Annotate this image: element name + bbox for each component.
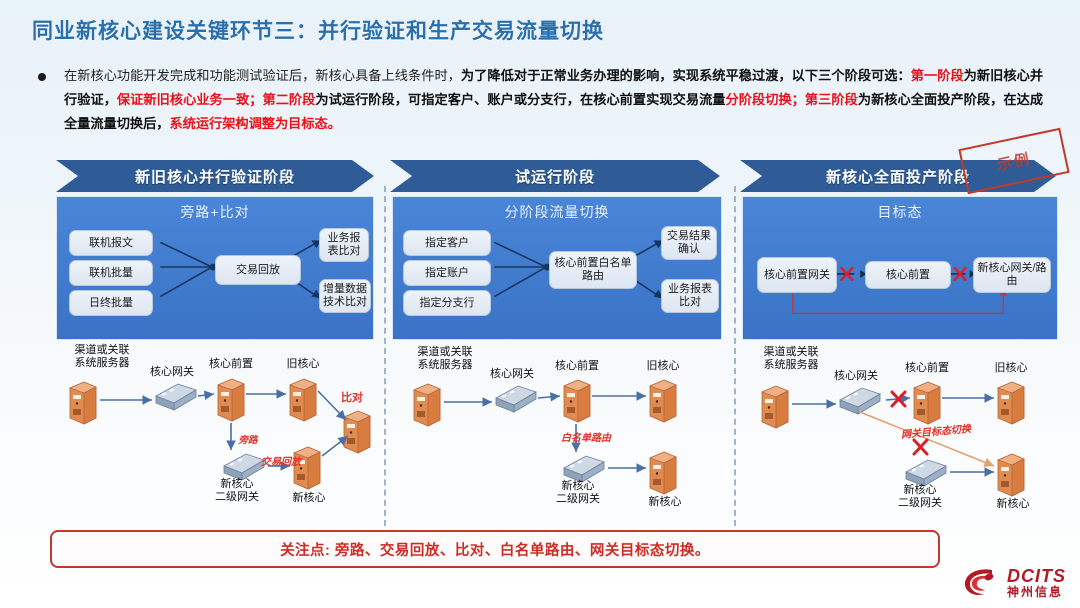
- phase-1-input-2: 联机批量: [69, 260, 153, 286]
- phase-1-annot-replay: 交易回放: [250, 456, 312, 469]
- footnote-box: 关注点: 旁路、交易回放、比对、白名单路由、网关目标态切换。: [50, 530, 940, 568]
- phase-1-input-3: 日终批量: [69, 290, 153, 316]
- phase-1-output-2-label: 增量数据技术比对: [323, 283, 367, 309]
- phase-1-input-3-label: 日终批量: [89, 297, 133, 310]
- para-seg-11: 系统运行架构调整为目标态。: [170, 116, 341, 131]
- phase-2-input-2: 指定账户: [403, 260, 491, 286]
- phase-1-output-1: 业务报表比对: [319, 228, 369, 262]
- phase-2-server-diagram: 渠道或关联 系统服务器 核心网关 核心前置 旧核心 新核心 二级网关 新核心 白…: [392, 344, 722, 519]
- column-divider-2: [734, 186, 736, 526]
- phase-2-output-2-label: 业务报表比对: [665, 283, 715, 309]
- phase-1-output-2: 增量数据技术比对: [319, 279, 371, 313]
- phase-1-middle-1-label: 交易回放: [236, 264, 280, 277]
- phase-1-label-oldcore: 旧核心: [272, 358, 334, 371]
- phase-3-flow-box: 目标态 核心前置网关 核心前置 新核心网关/路由: [742, 196, 1058, 340]
- para-seg-2: 为了降低对于正常业务办理的影响，实现系统平稳过渡，以下三个阶段可选：: [461, 68, 911, 83]
- phase-banner-1-label: 新旧核心并行验证阶段: [135, 166, 295, 187]
- para-seg-9: 第三阶段: [805, 92, 858, 107]
- phase-3-label-front: 核心前置: [892, 362, 962, 375]
- phase-1-label-channel: 渠道或关联 系统服务器: [58, 344, 146, 370]
- phase-3-chain-3: 新核心网关/路由: [973, 257, 1051, 293]
- phase-1-label-gateway: 核心网关: [140, 366, 204, 379]
- phase-3-chain-1: 核心前置网关: [757, 257, 837, 293]
- phase-column-3: 目标态 核心前置网关 核心前置 新核心网关/路由: [742, 196, 1058, 519]
- sample-stamp-label: 示例: [995, 147, 1033, 175]
- phase-banner-2-label: 试运行阶段: [515, 166, 595, 187]
- phase-1-server-diagram: 旁路 渠道或关联 系统服务器 核心网关 核心前置 旧核心 新核心 二级网关 新核…: [56, 344, 374, 519]
- phase-1-label-newcore: 新核心: [278, 492, 340, 505]
- phase-3-chain-2-label: 核心前置: [886, 269, 930, 282]
- phase-column-2: 分阶段流量切换 指定客户 指定账户 指定分支行 核心前置白名单路由 交易结果确认…: [392, 196, 722, 519]
- phase-3-chain-3-label: 新核心网关/路由: [977, 262, 1047, 288]
- phase-1-annot-compare: 比对: [330, 392, 374, 405]
- phase-2-label-oldcore: 旧核心: [632, 360, 694, 373]
- phase-banner-2: 试运行阶段: [390, 160, 720, 192]
- phase-3-chain-1-label: 核心前置网关: [764, 269, 830, 282]
- phase-1-middle-1: 交易回放: [215, 255, 301, 285]
- phase-1-label-newgw: 新核心 二级网关: [196, 478, 278, 504]
- para-seg-5: 保证新旧核心业务一致；: [117, 92, 263, 107]
- phase-2-output-1-label: 交易结果确认: [665, 230, 713, 256]
- intro-paragraph-block: 在新核心功能开发完成和功能测试验证后，新核心具备上线条件时，为了降低对于正常业务…: [38, 64, 1043, 136]
- logo-text-cn: 神州信息: [1007, 585, 1066, 599]
- phase-3-label-gateway: 核心网关: [824, 370, 888, 383]
- phase-2-input-1: 指定客户: [403, 230, 491, 256]
- phase-1-input-1-label: 联机报文: [89, 237, 133, 250]
- phase-3-label-newgw: 新核心 二级网关: [878, 484, 962, 510]
- phase-2-middle-1-label: 核心前置白名单路由: [553, 257, 633, 283]
- phase-3-label-newcore: 新核心: [982, 498, 1044, 511]
- para-seg-8: 分阶段切换；: [726, 92, 805, 107]
- phase-2-input-1-label: 指定客户: [425, 237, 469, 250]
- phase-2-label-front: 核心前置: [542, 360, 612, 373]
- phase-2-label-channel: 渠道或关联 系统服务器: [400, 346, 490, 372]
- svg-text:旁路: 旁路: [237, 434, 259, 446]
- phase-2-label-newgw: 新核心 二级网关: [536, 480, 620, 506]
- phase-column-1: 旁路+比对 联机报文 联机批量 日终批量 交易回放 业务报表比对 增量数据技术比…: [56, 196, 374, 519]
- phase-banner-1: 新旧核心并行验证阶段: [56, 160, 374, 192]
- phase-2-input-3: 指定分支行: [403, 290, 491, 316]
- phase-1-output-1-label: 业务报表比对: [323, 232, 365, 258]
- phase-3-label-oldcore: 旧核心: [980, 362, 1042, 375]
- phase-2-middle-1: 核心前置白名单路由: [549, 251, 637, 289]
- para-seg-3: 第一阶段: [911, 68, 964, 83]
- bullet-dot-icon: [38, 73, 46, 81]
- phase-2-input-3-label: 指定分支行: [420, 297, 475, 310]
- phase-3-chain-2: 核心前置: [865, 261, 951, 289]
- phase-3-label-channel: 渠道或关联 系统服务器: [746, 346, 836, 372]
- phase-1-input-2-label: 联机批量: [89, 267, 133, 280]
- sample-stamp: 示例: [958, 128, 1069, 195]
- phase-2-output-1: 交易结果确认: [661, 226, 717, 260]
- phase-1-label-front: 核心前置: [196, 358, 266, 371]
- phase-2-label-newcore: 新核心: [634, 496, 696, 509]
- phase-2-input-2-label: 指定账户: [425, 267, 469, 280]
- phase-banner-3-label: 新核心全面投产阶段: [826, 166, 970, 187]
- para-seg-1: 在新核心功能开发完成和功能测试验证后，新核心具备上线条件时，: [64, 68, 461, 83]
- phase-1-input-1: 联机报文: [69, 230, 153, 256]
- company-logo: DCITS 神州信息: [962, 566, 1066, 600]
- phase-2-flow-box: 分阶段流量切换 指定客户 指定账户 指定分支行 核心前置白名单路由 交易结果确认…: [392, 196, 722, 340]
- intro-paragraph: 在新核心功能开发完成和功能测试验证后，新核心具备上线条件时，为了降低对于正常业务…: [64, 64, 1043, 136]
- phase-3-server-diagram: 渠道或关联 系统服务器 核心网关 核心前置 旧核心 新核心 二级网关 新核心 网…: [742, 344, 1058, 519]
- page-title: 同业新核心建设关键环节三：并行验证和生产交易流量切换: [32, 15, 604, 45]
- phase-2-output-2: 业务报表比对: [661, 279, 719, 313]
- footnote-text: 关注点: 旁路、交易回放、比对、白名单路由、网关目标态切换。: [280, 539, 710, 560]
- phase-2-annot-whitelist: 白名单路由: [544, 432, 628, 445]
- dcits-swoosh-icon: [962, 566, 1002, 600]
- para-seg-6: 第二阶段: [262, 92, 315, 107]
- phase-2-label-gateway: 核心网关: [480, 368, 544, 381]
- logo-text-en: DCITS: [1007, 567, 1066, 585]
- phase-1-flow-box: 旁路+比对 联机报文 联机批量 日终批量 交易回放 业务报表比对 增量数据技术比…: [56, 196, 374, 340]
- para-seg-7: 为试运行阶段，可指定客户、账户或分支行，在核心前置实现交易流量: [315, 92, 725, 107]
- column-divider-1: [384, 186, 386, 526]
